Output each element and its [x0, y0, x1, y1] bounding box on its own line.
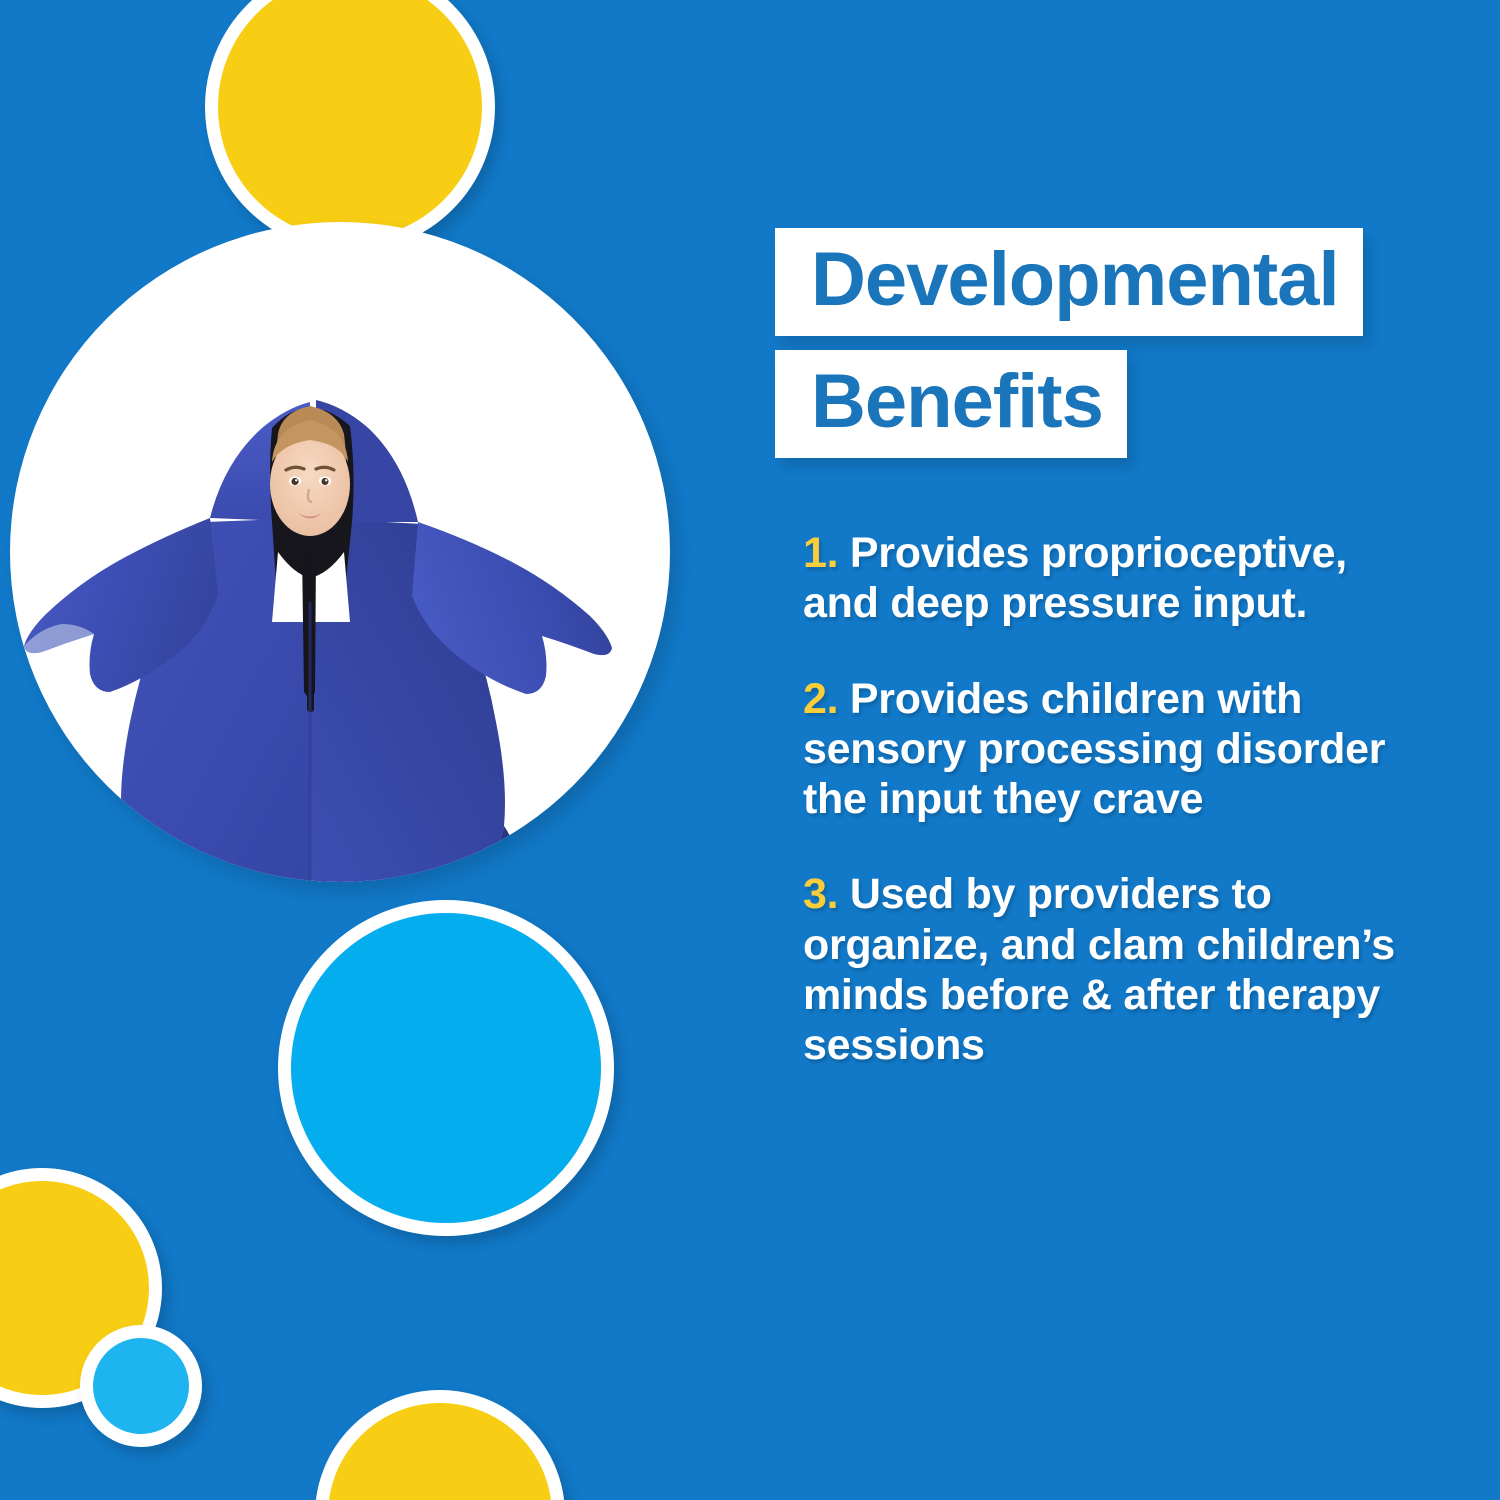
poster-canvas: Developmental Benefits 1. Provides propr… [0, 0, 1500, 1500]
cyan-circle-small-decoration [80, 1325, 202, 1447]
benefit-text-1: Provides proprioceptive, and deep pressu… [803, 529, 1347, 627]
benefit-item-1: 1. Provides proprioceptive, and deep pre… [803, 528, 1428, 629]
benefit-item-3: 3. Used by providers to organize, and cl… [803, 869, 1428, 1070]
benefit-number-1: 1. [803, 529, 838, 577]
page-title-line-2: Benefits [775, 350, 1127, 458]
yellow-circle-top-decoration [205, 0, 495, 252]
content-column: Developmental Benefits 1. Provides propr… [775, 0, 1475, 1500]
benefit-text-3: Used by providers to organize, and clam … [803, 870, 1395, 1069]
benefit-item-2: 2. Provides children with sensory proces… [803, 674, 1428, 825]
benefit-text-2: Provides children with sensory processin… [803, 675, 1385, 824]
cyan-circle-mid-decoration [278, 900, 614, 1236]
benefit-number-3: 3. [803, 870, 838, 918]
page-title-line-1: Developmental [775, 228, 1363, 336]
benefit-number-2: 2. [803, 675, 838, 723]
product-photo [10, 222, 670, 882]
yellow-circle-bottom-decoration [315, 1390, 565, 1500]
product-image-circle [10, 222, 670, 882]
benefits-list: 1. Provides proprioceptive, and deep pre… [803, 528, 1428, 1116]
